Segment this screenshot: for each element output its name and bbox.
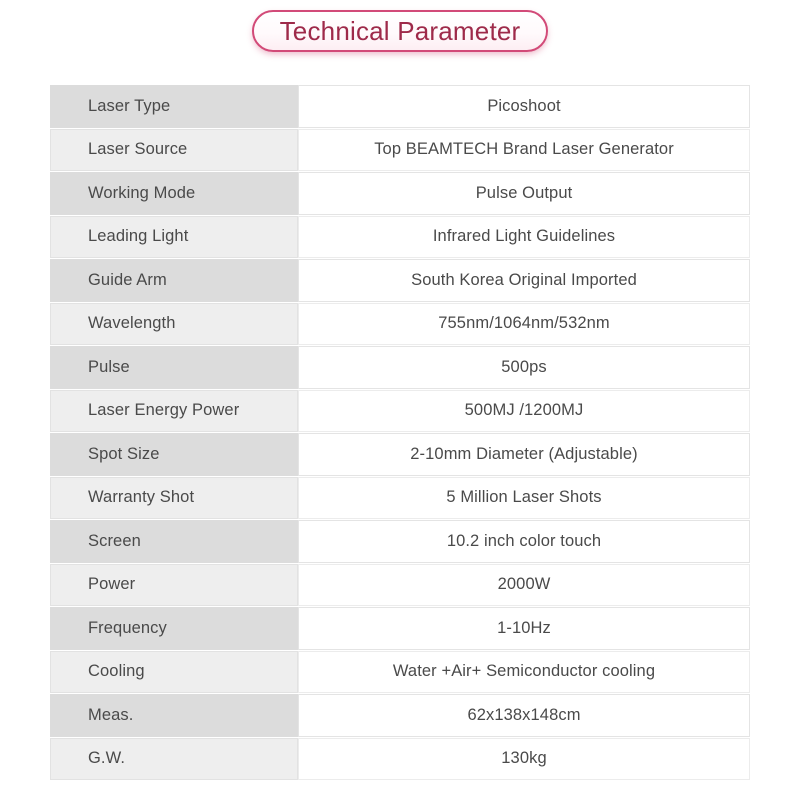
table-row: Working ModePulse Output (50, 172, 750, 215)
table-row: Laser TypePicoshoot (50, 85, 750, 128)
spec-label: Pulse (50, 346, 298, 389)
spec-label: Warranty Shot (50, 477, 298, 520)
spec-label: Laser Source (50, 129, 298, 172)
page-title-pill: Technical Parameter (252, 10, 549, 52)
spec-value: Top BEAMTECH Brand Laser Generator (298, 129, 750, 172)
spec-label: Guide Arm (50, 259, 298, 302)
technical-parameter-page: Technical Parameter Laser TypePicoshootL… (0, 0, 800, 800)
table-row: Screen10.2 inch color touch (50, 520, 750, 563)
table-row: Wavelength755nm/1064nm/532nm (50, 303, 750, 346)
spec-value: 755nm/1064nm/532nm (298, 303, 750, 346)
spec-value: Infrared Light Guidelines (298, 216, 750, 259)
spec-label: Meas. (50, 694, 298, 737)
spec-value: 500MJ /1200MJ (298, 390, 750, 433)
table-row: Laser SourceTop BEAMTECH Brand Laser Gen… (50, 129, 750, 172)
spec-label: Working Mode (50, 172, 298, 215)
table-row: Pulse500ps (50, 346, 750, 389)
spec-label: Laser Energy Power (50, 390, 298, 433)
spec-value: 130kg (298, 738, 750, 781)
table-row: Warranty Shot5 Million Laser Shots (50, 477, 750, 520)
spec-label: Laser Type (50, 85, 298, 128)
table-row: Meas.62x138x148cm (50, 694, 750, 737)
spec-value: 500ps (298, 346, 750, 389)
spec-label: Spot Size (50, 433, 298, 476)
table-row: CoolingWater +Air+ Semiconductor cooling (50, 651, 750, 694)
spec-value: 2000W (298, 564, 750, 607)
table-row: G.W.130kg (50, 738, 750, 781)
spec-label: Cooling (50, 651, 298, 694)
spec-label: Screen (50, 520, 298, 563)
table-row: Guide ArmSouth Korea Original Imported (50, 259, 750, 302)
page-title: Technical Parameter (280, 18, 521, 44)
table-row: Spot Size2-10mm Diameter (Adjustable) (50, 433, 750, 476)
spec-label: Leading Light (50, 216, 298, 259)
spec-label: Power (50, 564, 298, 607)
spec-value: 10.2 inch color touch (298, 520, 750, 563)
spec-value: Water +Air+ Semiconductor cooling (298, 651, 750, 694)
table-row: Leading LightInfrared Light Guidelines (50, 216, 750, 259)
spec-value: 5 Million Laser Shots (298, 477, 750, 520)
spec-value: 62x138x148cm (298, 694, 750, 737)
table-row: Frequency1-10Hz (50, 607, 750, 650)
table-row: Power2000W (50, 564, 750, 607)
spec-label: Frequency (50, 607, 298, 650)
spec-label: Wavelength (50, 303, 298, 346)
spec-label: G.W. (50, 738, 298, 781)
spec-value: Picoshoot (298, 85, 750, 128)
spec-value: 2-10mm Diameter (Adjustable) (298, 433, 750, 476)
specifications-table: Laser TypePicoshootLaser SourceTop BEAMT… (50, 85, 750, 780)
spec-value: Pulse Output (298, 172, 750, 215)
spec-value: 1-10Hz (298, 607, 750, 650)
page-title-container: Technical Parameter (0, 10, 800, 52)
table-row: Laser Energy Power500MJ /1200MJ (50, 390, 750, 433)
spec-value: South Korea Original Imported (298, 259, 750, 302)
